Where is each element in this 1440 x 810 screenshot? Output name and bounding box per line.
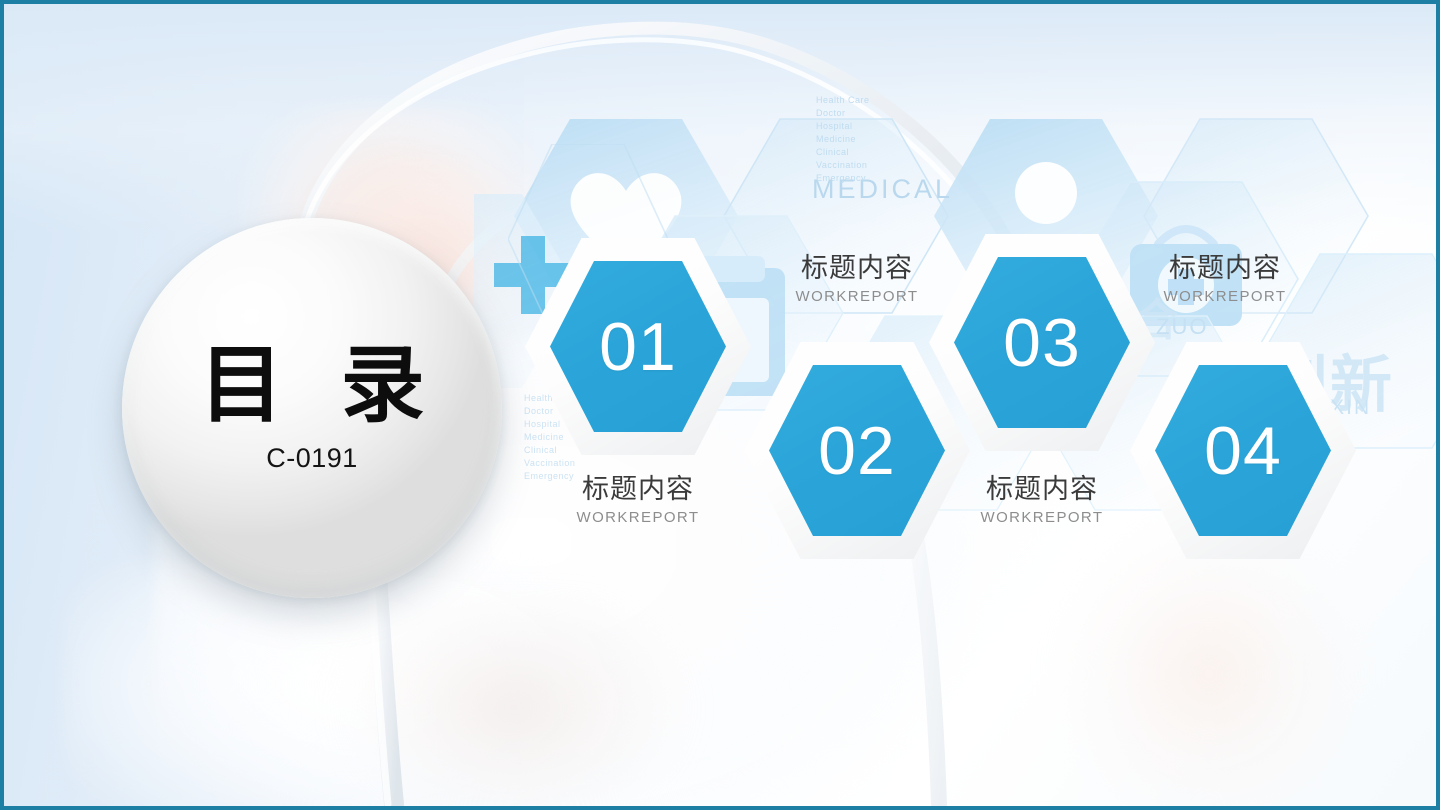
hex-number: 02	[818, 417, 896, 485]
toc-label-01: 标题内容 WORKREPORT	[548, 474, 728, 526]
toc-item-01[interactable]: 01	[525, 238, 751, 455]
toc-label-04: 标题内容 WORKREPORT	[1135, 253, 1315, 305]
toc-label-03-cn: 标题内容	[952, 474, 1132, 505]
toc-label-01-en: WORKREPORT	[548, 509, 728, 526]
watermark-zuo: ZUO	[1156, 314, 1208, 340]
toc-label-02-en: WORKREPORT	[767, 288, 947, 305]
toc-label-03-en: WORKREPORT	[952, 509, 1132, 526]
page-title: 目 录	[185, 343, 438, 427]
hex-number: 04	[1204, 417, 1282, 485]
toc-label-04-cn: 标题内容	[1135, 253, 1315, 284]
hex-number: 03	[1003, 309, 1081, 377]
hex-number: 01	[599, 313, 677, 381]
toc-label-04-en: WORKREPORT	[1135, 288, 1315, 305]
toc-item-03[interactable]: 03	[929, 234, 1155, 451]
toc-item-04[interactable]: 04	[1130, 342, 1356, 559]
toc-label-01-cn: 标题内容	[548, 474, 728, 505]
toc-label-02-cn: 标题内容	[767, 253, 947, 284]
presentation-slide: MEDICAL 合 ZUO 创新 G XIN Health Care Docto…	[0, 0, 1440, 810]
toc-label-03: 标题内容 WORKREPORT	[952, 474, 1132, 526]
toc-badge: 目 录 C-0191	[122, 218, 502, 598]
watermark-tiny-list: Health Care Doctor Hospital Medicine Cli…	[816, 94, 870, 185]
toc-label-02: 标题内容 WORKREPORT	[767, 253, 947, 305]
badge-code: C-0191	[266, 443, 358, 474]
